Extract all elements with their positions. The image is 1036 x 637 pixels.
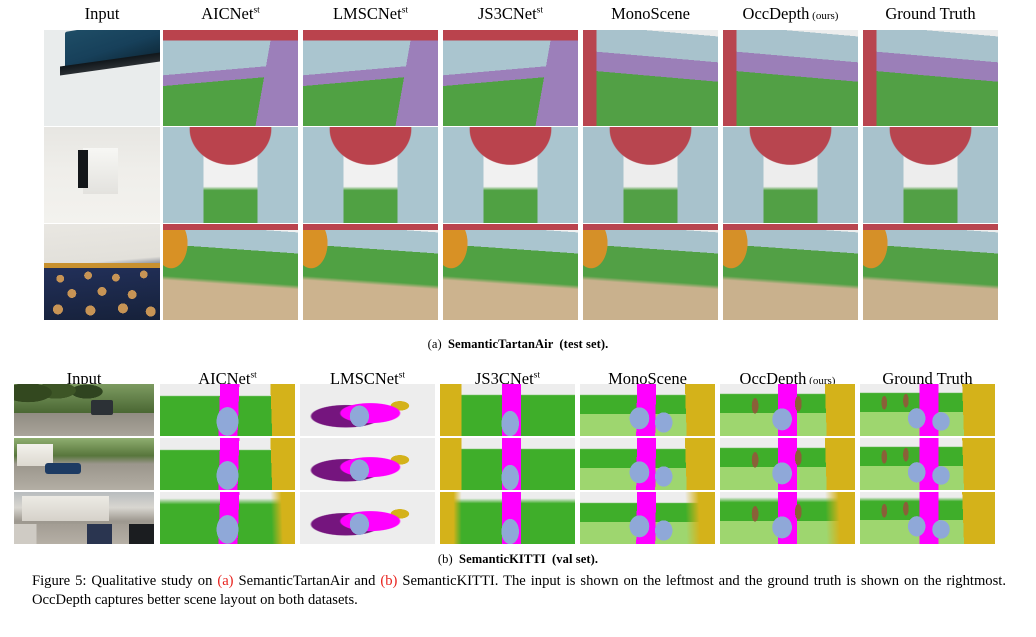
panel-b-caption-index: (b) bbox=[438, 552, 453, 566]
column-header-label: LMSCNet bbox=[333, 4, 402, 23]
panel-a-column-headers: InputAICNetstLMSCNetstJS3CNetstMonoScene… bbox=[0, 6, 1036, 28]
voxel-prediction bbox=[720, 492, 855, 544]
column-header-label: JS3CNet bbox=[478, 4, 537, 23]
column-header-superscript: st bbox=[402, 6, 408, 16]
panel-a-row-1-groundtruth-cell[interactable] bbox=[863, 30, 998, 126]
panel-a-row-2-monoscene-cell[interactable] bbox=[583, 127, 718, 223]
voxel-prediction bbox=[723, 224, 858, 320]
voxel-prediction bbox=[163, 30, 298, 126]
panel-b-row-3-aicnet-cell[interactable] bbox=[160, 492, 295, 544]
voxel-prediction bbox=[163, 224, 298, 320]
voxel-prediction bbox=[300, 438, 435, 490]
column-header-lmscnet: LMSCNetst bbox=[303, 6, 438, 23]
panel-b-grid bbox=[0, 384, 1036, 546]
column-header-monoscene: MonoScene bbox=[583, 6, 718, 23]
panel-b-row-2-monoscene-cell[interactable] bbox=[580, 438, 715, 490]
column-header-superscript: st bbox=[534, 371, 540, 381]
column-header-superscript: st bbox=[399, 371, 405, 381]
panel-a-row-3-js3cnet-cell[interactable] bbox=[443, 224, 578, 320]
panel-b-row-3-lmscnet-cell[interactable] bbox=[300, 492, 435, 544]
voxel-prediction bbox=[720, 438, 855, 490]
voxel-prediction bbox=[860, 492, 995, 544]
panel-b-row-1-lmscnet-cell[interactable] bbox=[300, 384, 435, 436]
voxel-prediction bbox=[723, 127, 858, 223]
column-header-label: MonoScene bbox=[611, 4, 690, 23]
figure-page: InputAICNetstLMSCNetstJS3CNetstMonoScene… bbox=[0, 0, 1036, 637]
voxel-prediction bbox=[443, 224, 578, 320]
voxel-prediction bbox=[720, 384, 855, 436]
panel-a-row-3-aicnet-cell[interactable] bbox=[163, 224, 298, 320]
voxel-prediction bbox=[580, 492, 715, 544]
input-photo bbox=[14, 492, 154, 544]
voxel-prediction bbox=[440, 438, 575, 490]
panel-b-row-1-occdepth-cell[interactable] bbox=[720, 384, 855, 436]
panel-b-caption-name: SemanticKITTI bbox=[459, 552, 546, 566]
panel-a-row-1-input-cell[interactable] bbox=[44, 30, 160, 126]
panel-b-row-3-groundtruth-cell[interactable] bbox=[860, 492, 995, 544]
column-header-js3cnet: JS3CNetst bbox=[443, 6, 578, 23]
panel-b-row-1-monoscene-cell[interactable] bbox=[580, 384, 715, 436]
voxel-prediction bbox=[440, 384, 575, 436]
panel-b-row-1-groundtruth-cell[interactable] bbox=[860, 384, 995, 436]
panel-a-row-3-occdepth-cell[interactable] bbox=[723, 224, 858, 320]
voxel-prediction bbox=[300, 492, 435, 544]
figure-caption: Figure 5: Qualitative study on (a) Seman… bbox=[32, 572, 1006, 610]
input-photo bbox=[44, 30, 160, 126]
panel-a-caption: (a) SemanticTartanAir (test set). bbox=[0, 337, 1036, 352]
column-header-label: OccDepth bbox=[743, 4, 810, 23]
panel-b-row-3-js3cnet-cell[interactable] bbox=[440, 492, 575, 544]
column-header-superscript: st bbox=[253, 6, 259, 16]
voxel-prediction bbox=[160, 384, 295, 436]
input-photo bbox=[44, 127, 160, 223]
panel-b-row-3-occdepth-cell[interactable] bbox=[720, 492, 855, 544]
voxel-prediction bbox=[300, 384, 435, 436]
panel-a-row-2-js3cnet-cell[interactable] bbox=[443, 127, 578, 223]
panel-a-row-3-groundtruth-cell[interactable] bbox=[863, 224, 998, 320]
column-header-superscript: st bbox=[250, 371, 256, 381]
voxel-prediction bbox=[583, 127, 718, 223]
panel-a-row-2-aicnet-cell[interactable] bbox=[163, 127, 298, 223]
voxel-prediction bbox=[163, 127, 298, 223]
caption-text: Figure 5: bbox=[32, 573, 91, 589]
panel-a-row-1-aicnet-cell[interactable] bbox=[163, 30, 298, 126]
voxel-prediction bbox=[863, 30, 998, 126]
panel-a-row-3-input-cell[interactable] bbox=[44, 224, 160, 320]
input-photo bbox=[14, 384, 154, 436]
panel-b-row-2-input-cell[interactable] bbox=[14, 438, 154, 490]
panel-a-row-2-input-cell[interactable] bbox=[44, 127, 160, 223]
panel-b-row-2-groundtruth-cell[interactable] bbox=[860, 438, 995, 490]
voxel-prediction bbox=[443, 127, 578, 223]
caption-text: Qualitative study on bbox=[91, 573, 217, 589]
panel-a-row-1-lmscnet-cell[interactable] bbox=[303, 30, 438, 126]
column-header-label: Ground Truth bbox=[885, 4, 975, 23]
voxel-prediction bbox=[863, 224, 998, 320]
panel-a-row-2-lmscnet-cell[interactable] bbox=[303, 127, 438, 223]
panel-b-caption: (b) SemanticKITTI (val set). bbox=[0, 552, 1036, 567]
voxel-prediction bbox=[160, 438, 295, 490]
voxel-prediction bbox=[160, 492, 295, 544]
panel-a-row-1-monoscene-cell[interactable] bbox=[583, 30, 718, 126]
voxel-prediction bbox=[860, 384, 995, 436]
panel-b-row-3-input-cell[interactable] bbox=[14, 492, 154, 544]
voxel-prediction bbox=[580, 384, 715, 436]
panel-b-row-1-input-cell[interactable] bbox=[14, 384, 154, 436]
column-header-occdepth: OccDepth (ours) bbox=[723, 6, 858, 23]
column-header-note: (ours) bbox=[809, 10, 838, 22]
voxel-prediction bbox=[443, 30, 578, 126]
input-photo bbox=[14, 438, 154, 490]
panel-a-row-1-js3cnet-cell[interactable] bbox=[443, 30, 578, 126]
panel-a-row-2-occdepth-cell[interactable] bbox=[723, 127, 858, 223]
panel-b-row-3-monoscene-cell[interactable] bbox=[580, 492, 715, 544]
column-header-superscript: st bbox=[537, 6, 543, 16]
panel-b-row-1-aicnet-cell[interactable] bbox=[160, 384, 295, 436]
column-header-aicnet: AICNetst bbox=[163, 6, 298, 23]
panel-a-caption-index: (a) bbox=[428, 337, 442, 351]
panel-a-row-2-groundtruth-cell[interactable] bbox=[863, 127, 998, 223]
column-header-label: Input bbox=[85, 4, 120, 23]
voxel-prediction bbox=[860, 438, 995, 490]
input-photo bbox=[44, 224, 160, 320]
panel-b-row-2-js3cnet-cell[interactable] bbox=[440, 438, 575, 490]
voxel-prediction bbox=[723, 30, 858, 126]
caption-text: SemanticTartanAir and bbox=[234, 573, 381, 589]
voxel-prediction bbox=[303, 224, 438, 320]
voxel-prediction bbox=[583, 30, 718, 126]
voxel-prediction bbox=[303, 127, 438, 223]
panel-a-row-3-lmscnet-cell[interactable] bbox=[303, 224, 438, 320]
column-header-input: Input bbox=[44, 6, 160, 23]
panel-b-row-2-aicnet-cell[interactable] bbox=[160, 438, 295, 490]
column-header-label: AICNet bbox=[201, 4, 253, 23]
caption-reference: (a) bbox=[217, 573, 233, 589]
panel-a-row-1-occdepth-cell[interactable] bbox=[723, 30, 858, 126]
panel-b-caption-split: (val set). bbox=[552, 552, 598, 566]
panel-b-row-1-js3cnet-cell[interactable] bbox=[440, 384, 575, 436]
column-header-groundtruth: Ground Truth bbox=[863, 6, 998, 23]
voxel-prediction bbox=[583, 224, 718, 320]
panel-a-row-3-monoscene-cell[interactable] bbox=[583, 224, 718, 320]
caption-reference: (b) bbox=[380, 573, 397, 589]
panel-a-grid bbox=[0, 30, 1036, 321]
panel-b-row-2-occdepth-cell[interactable] bbox=[720, 438, 855, 490]
voxel-prediction bbox=[863, 127, 998, 223]
panel-a-caption-name: SemanticTartanAir bbox=[448, 337, 553, 351]
panel-a-caption-split: (test set). bbox=[559, 337, 608, 351]
voxel-prediction bbox=[303, 30, 438, 126]
panel-b-row-2-lmscnet-cell[interactable] bbox=[300, 438, 435, 490]
voxel-prediction bbox=[440, 492, 575, 544]
voxel-prediction bbox=[580, 438, 715, 490]
